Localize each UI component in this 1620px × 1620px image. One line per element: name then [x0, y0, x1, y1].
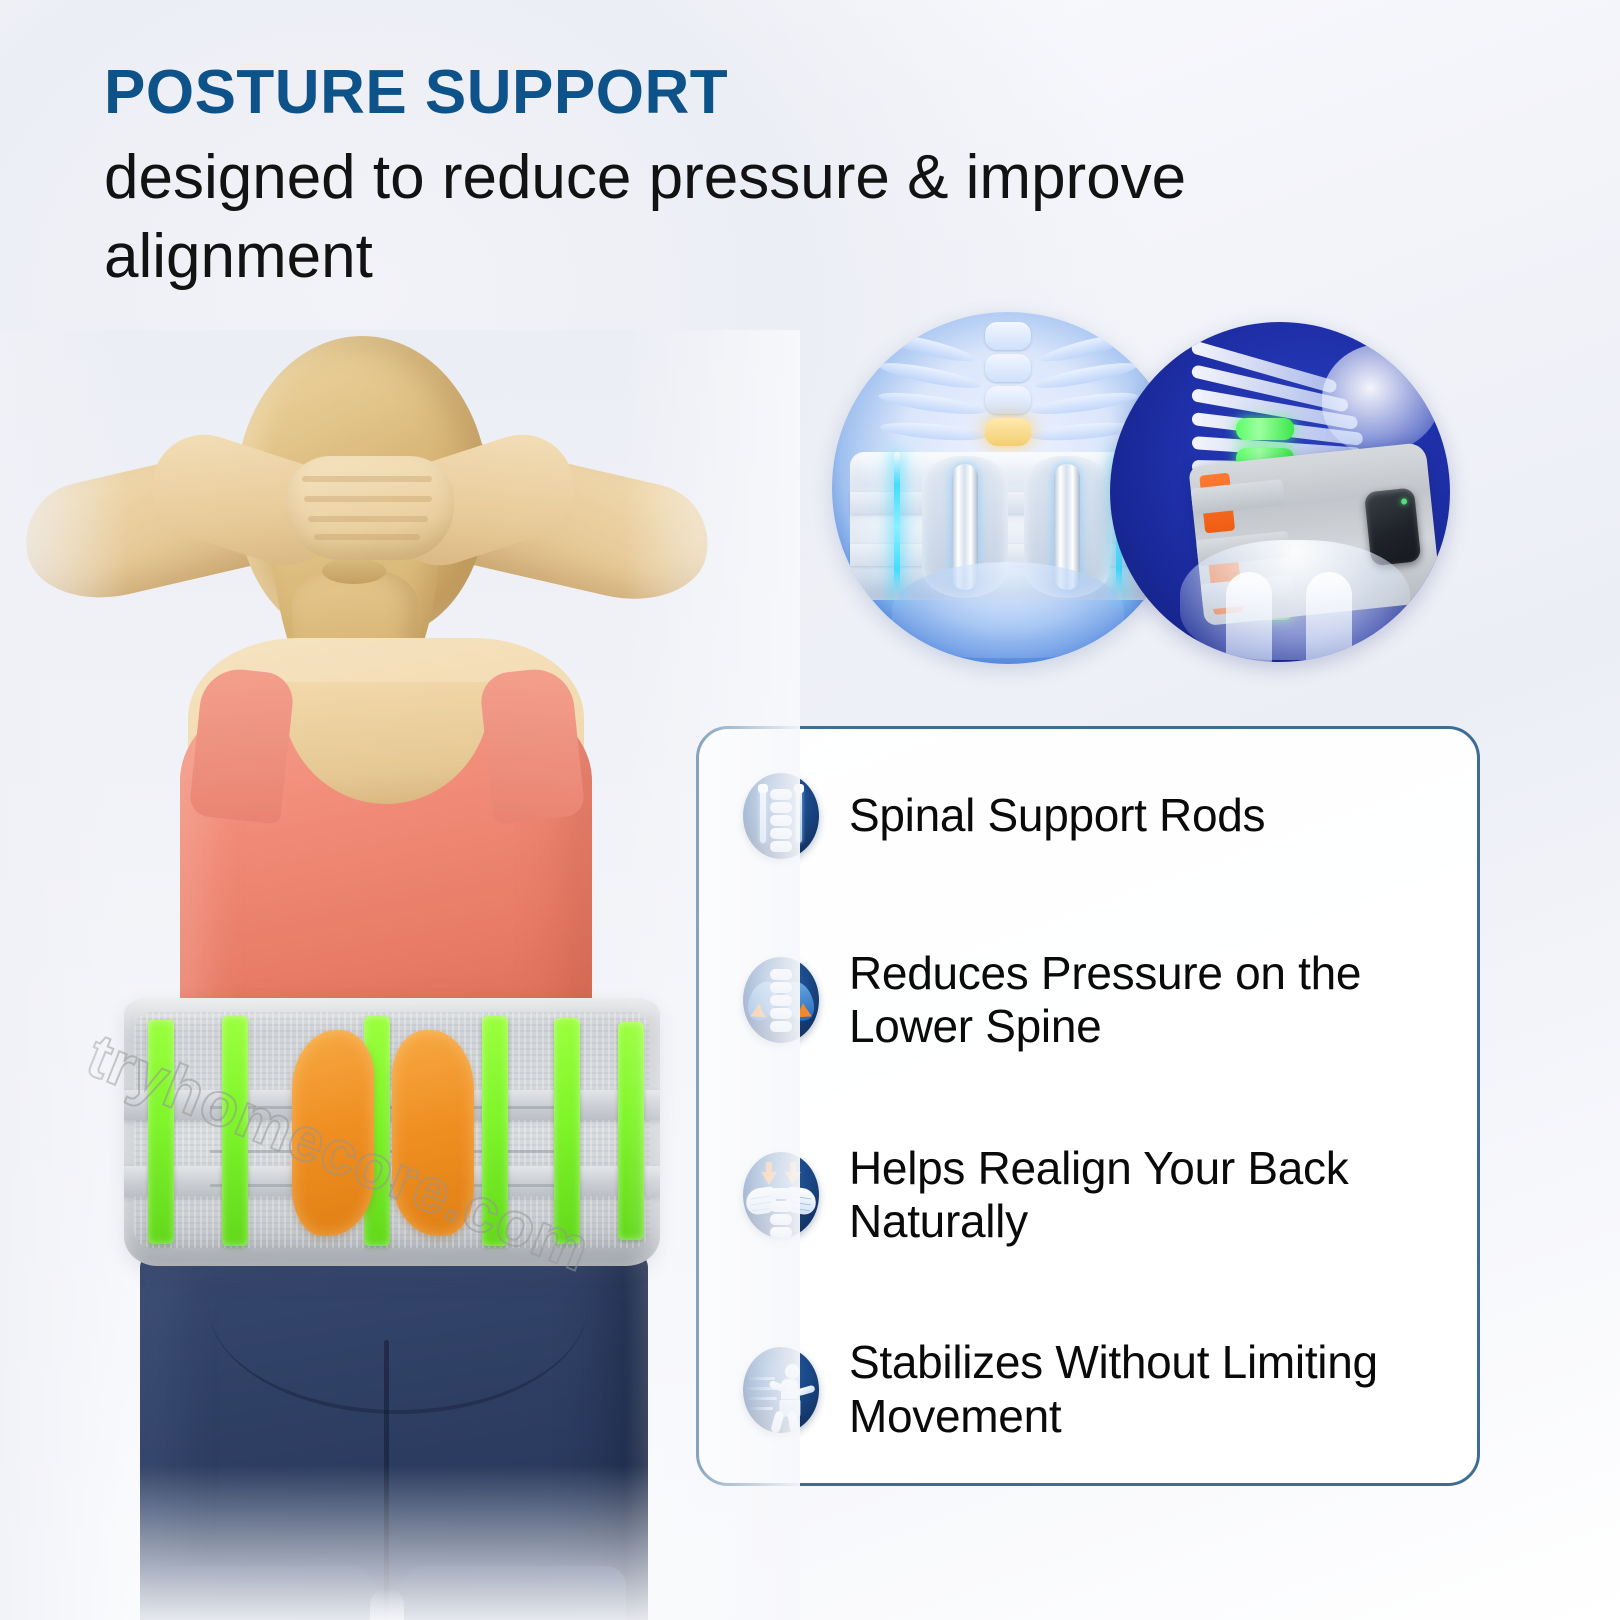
feature-label: Stabilizes Without Limiting Movement: [849, 1336, 1443, 1443]
right-leg: [398, 1566, 626, 1620]
feature-item: Reduces Pressure on the Lower Spine: [743, 947, 1443, 1054]
running-person-with-belt-icon: [743, 1347, 819, 1433]
brace-stay-green: [148, 1020, 174, 1244]
model-photo: tryhomecore.com: [0, 330, 800, 1620]
device-led-icon: [1401, 498, 1408, 505]
brace-stay-green: [222, 1016, 248, 1246]
lumbar-pad-left: [292, 1030, 374, 1236]
feature-item: Helps Realign Your Back Naturally: [743, 1142, 1443, 1249]
page-title: POSTURE SUPPORT: [104, 62, 1504, 124]
spine-with-support-rods-icon: [743, 773, 819, 859]
product-marketing-image: POSTURE SUPPORT designed to reduce press…: [0, 0, 1620, 1620]
headline-block: POSTURE SUPPORT designed to reduce press…: [104, 62, 1504, 297]
xray-pelvis-side: [1180, 540, 1410, 660]
page-subtitle: designed to reduce pressure & improve al…: [104, 138, 1394, 297]
brace-stay-green: [554, 1018, 580, 1244]
xray-pelvis: [892, 562, 1124, 658]
xray-femur: [1306, 572, 1352, 662]
hands-behind-head: [286, 456, 454, 560]
leg-gap: [370, 1588, 404, 1620]
feature-list-card: Spinal Support Rods Reduces Pressure on …: [696, 726, 1480, 1486]
feature-item: Spinal Support Rods: [743, 773, 1443, 859]
spine-pressure-arrows-icon: [743, 957, 819, 1043]
glow-line: [894, 452, 900, 602]
lumbar-pad-right: [392, 1030, 474, 1236]
lumbar-back-brace: [124, 998, 660, 1266]
brace-stay-green: [482, 1016, 508, 1246]
product-circle-image-side-profile: [1110, 322, 1450, 662]
leggings-center-seam: [384, 1340, 389, 1620]
brace-stay-green: [618, 1022, 644, 1240]
xray-femur: [1226, 572, 1272, 662]
left-leg: [150, 1566, 378, 1620]
xray-scapula: [1322, 344, 1442, 454]
feature-label: Helps Realign Your Back Naturally: [849, 1142, 1443, 1249]
feature-label: Spinal Support Rods: [849, 789, 1265, 842]
hands-realigning-spine-icon: [743, 1152, 819, 1238]
feature-label: Reduces Pressure on the Lower Spine: [849, 947, 1443, 1054]
tank-strap-left: [188, 666, 295, 825]
feature-item: Stabilizes Without Limiting Movement: [743, 1336, 1443, 1443]
